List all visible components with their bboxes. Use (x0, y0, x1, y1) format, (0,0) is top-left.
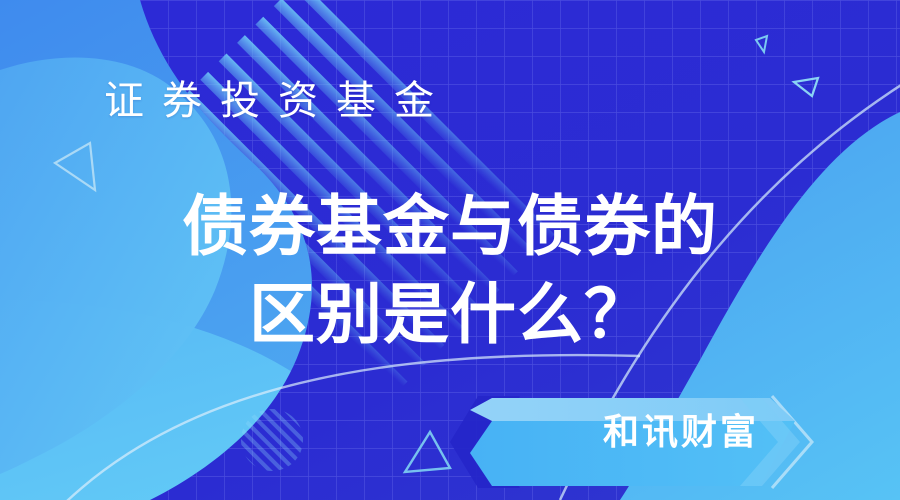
decor-triangle-bottom (405, 432, 450, 472)
decor-arc-bottom (0, 355, 640, 500)
page-title: 债券基金与债券的 区别是什么？ (0, 182, 900, 358)
kicker-title: 证券投资基金 (104, 76, 452, 126)
headline-line-2: 区别是什么？ (0, 270, 900, 358)
promo-banner: 证券投资基金 债券基金与债券的 区别是什么？ 和讯财富 (0, 0, 900, 500)
brand-ribbon-label: 和讯财富 (566, 408, 796, 456)
headline-line-1: 债券基金与债券的 (0, 182, 900, 270)
decor-triangle-small-top (756, 36, 767, 52)
decor-triangle-right (794, 78, 818, 96)
decor-striped-circle (241, 409, 303, 471)
decor-chevron-dark (450, 396, 520, 488)
